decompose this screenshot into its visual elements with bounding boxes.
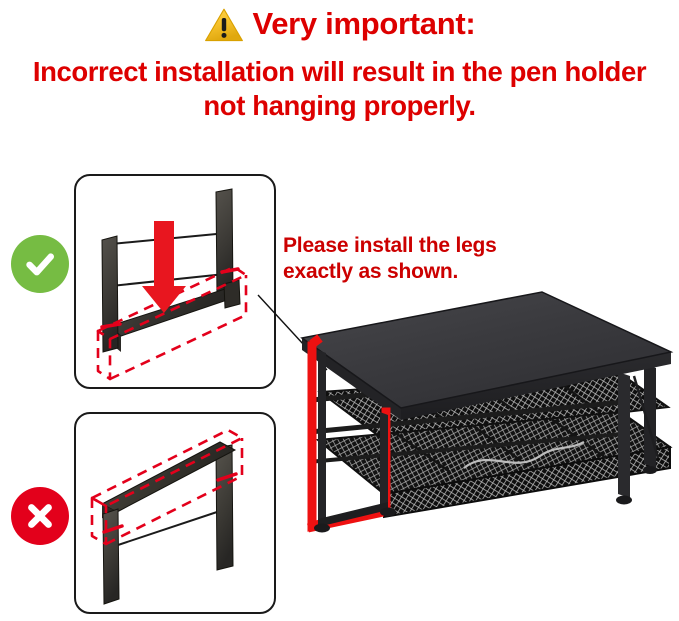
warning-body-line-2: not hanging properly. [0,89,679,123]
down-arrow-icon [142,221,186,313]
product-illustration [288,272,679,562]
leg-back-left [380,412,388,508]
foot-front-right [616,496,632,505]
foot-back-left [380,508,396,517]
leg-front-right [618,372,630,498]
x-glyph [20,496,60,536]
x-circle-icon [11,487,69,545]
leg-front-left [318,350,326,522]
legs-correct-orientation-diagram [74,174,276,389]
check-circle-icon [11,235,69,293]
page-title: Very important: [253,5,476,43]
incorrect-legs-illustration [76,414,274,612]
warning-body-text: Incorrect installation will result in th… [0,55,679,123]
check-glyph [20,244,60,284]
warning-body-line-1: Incorrect installation will result in th… [0,55,679,89]
legs-incorrect-orientation-diagram [74,412,276,614]
monitor-stand-with-mesh-drawer [288,272,679,562]
warning-triangle-icon [204,7,244,43]
foot-front-left [314,524,330,533]
warning-header: Very important: Incorrect installation w… [0,0,679,140]
correct-legs-illustration [76,176,274,387]
headline-row: Very important: [0,4,679,43]
callout-line-1: Please install the legs [283,233,583,259]
